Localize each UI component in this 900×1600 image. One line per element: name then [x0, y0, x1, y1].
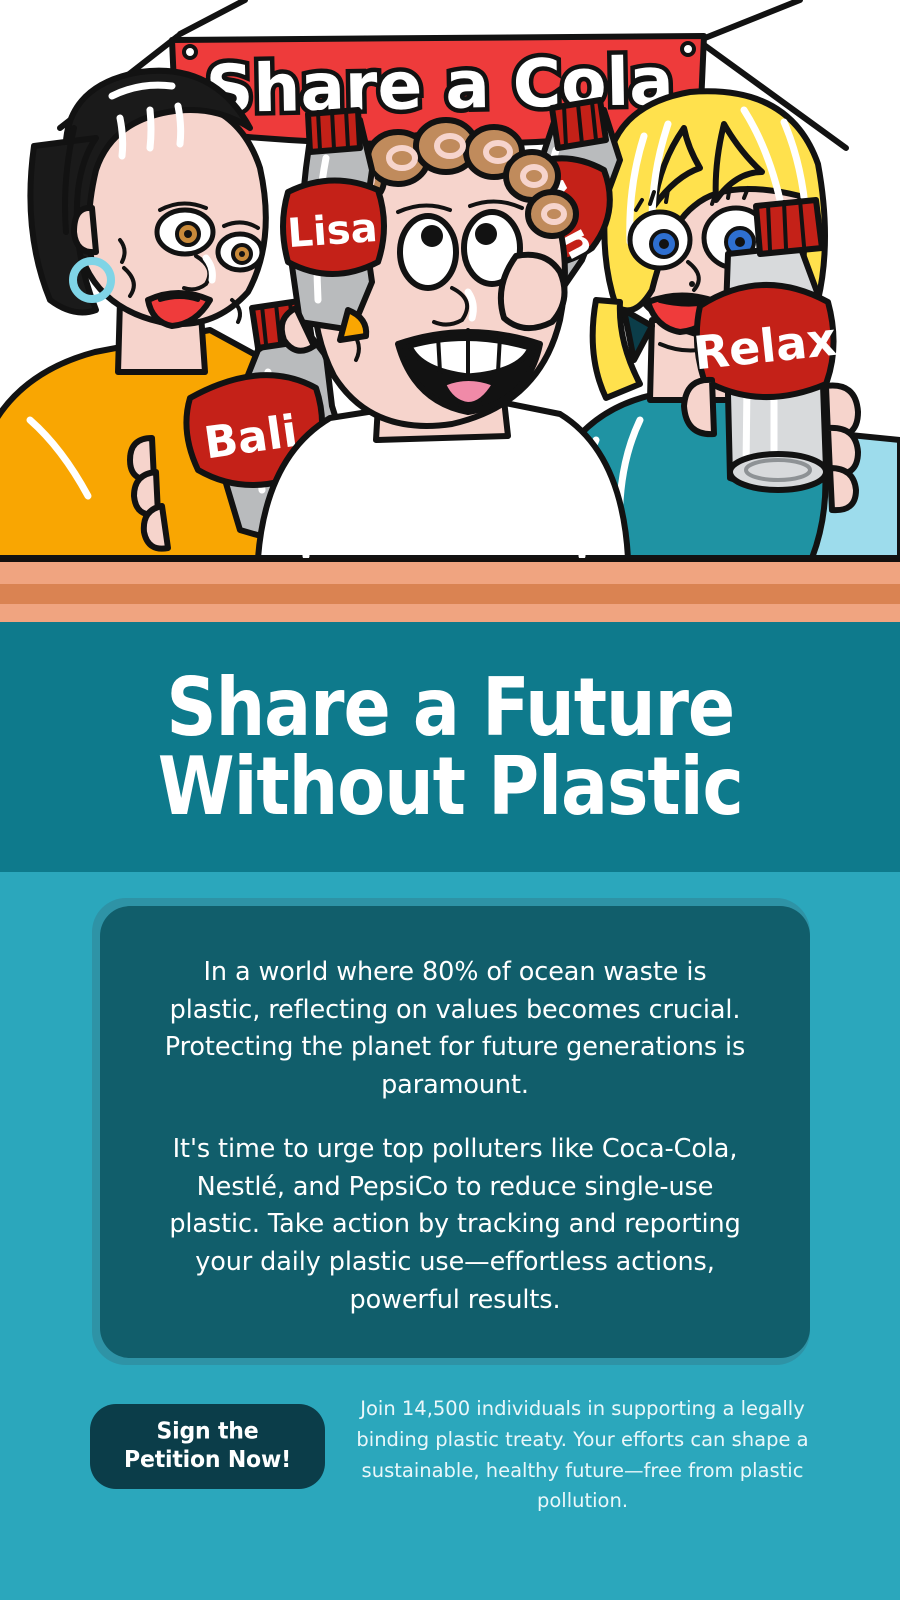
- cta-row: Sign the Petition Now! Join 14,500 indiv…: [0, 1396, 900, 1596]
- message-card: In a world where 80% of ocean waste is p…: [100, 906, 810, 1358]
- body-section: In a world where 80% of ocean waste is p…: [0, 872, 900, 1600]
- sign-petition-button[interactable]: Sign the Petition Now!: [90, 1404, 325, 1489]
- sign-petition-button-label: Sign the Petition Now!: [124, 1418, 291, 1475]
- divider-peach-top: [0, 562, 900, 584]
- divider-peach-bottom: [0, 604, 900, 622]
- bottle-label-lisa: Lisa: [286, 205, 379, 257]
- cta-note: Join 14,500 individuals in supporting a …: [355, 1394, 810, 1517]
- paragraph-2: It's time to urge top polluters like Coc…: [156, 1131, 754, 1320]
- headline-section: Share a Future Without Plastic: [0, 622, 900, 872]
- divider-orange: [0, 584, 900, 604]
- page-title: Share a Future Without Plastic: [157, 667, 742, 826]
- paragraph-1: In a world where 80% of ocean waste is p…: [156, 954, 754, 1105]
- hero-illustration: .ol{stroke:#121212;stroke-width:6;stroke…: [0, 0, 900, 558]
